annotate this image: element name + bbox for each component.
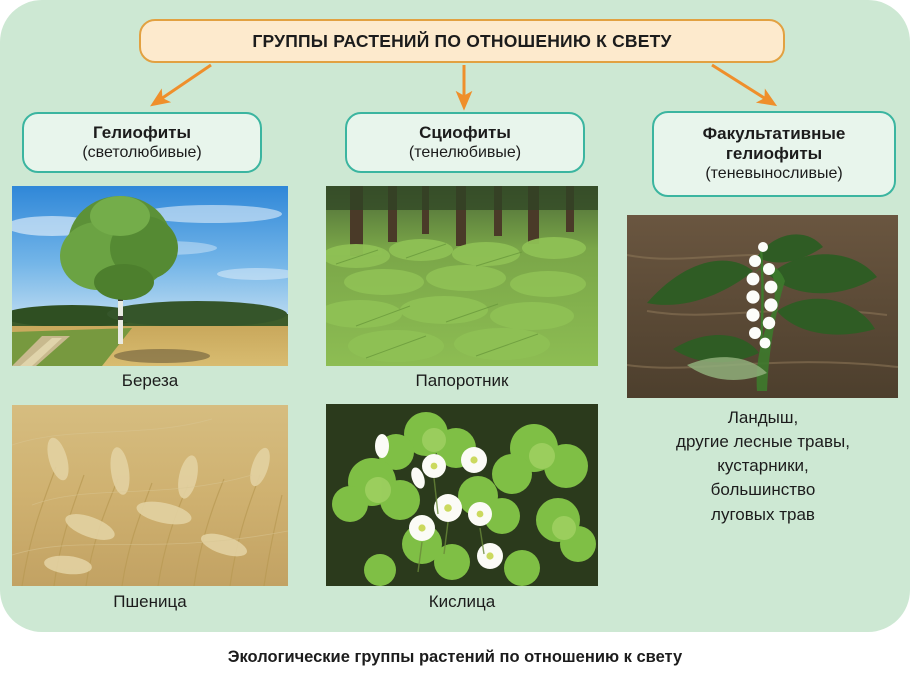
caption-birch: Береза [12, 371, 288, 391]
photo-wood-sorrel [326, 404, 598, 586]
category-box-heliophytes: Гелиофиты (светолюбивые) [22, 112, 262, 173]
photo-birch-tree [12, 186, 288, 366]
category-name-heliophytes: Гелиофиты [93, 123, 191, 143]
diagram-page: ГРУППЫ РАСТЕНИЙ ПО ОТНОШЕНИЮ К СВЕТУ Гел… [0, 0, 910, 686]
figure-caption: Экологические группы растений по отношен… [0, 648, 910, 667]
caption-oxalis: Кислица [326, 592, 598, 612]
diagram-title-box: ГРУППЫ РАСТЕНИЙ ПО ОТНОШЕНИЮ К СВЕТУ [139, 19, 785, 63]
category-name-facultative-line1: Факультативные [703, 124, 846, 144]
category-subtitle-sciophytes: (тенелюбивые) [409, 143, 521, 162]
photo-lily-of-the-valley [627, 215, 898, 398]
caption-wheat: Пшеница [12, 592, 288, 612]
category-name-sciophytes: Сциофиты [419, 123, 511, 143]
photo-fern-forest [326, 186, 598, 366]
photo-wheat-field [12, 405, 288, 586]
category-subtitle-heliophytes: (светолюбивые) [82, 143, 201, 162]
caption-fern: Папоротник [326, 371, 598, 391]
facultative-heliophytes-examples-text: Ландыш, другие лесные травы, кустарники,… [620, 406, 906, 527]
category-name-facultative-line2: гелиофиты [726, 144, 822, 164]
category-box-sciophytes: Сциофиты (тенелюбивые) [345, 112, 585, 173]
diagram-title-text: ГРУППЫ РАСТЕНИЙ ПО ОТНОШЕНИЮ К СВЕТУ [252, 31, 671, 52]
category-box-facultative-heliophytes: Факультативные гелиофиты (теневыносливые… [652, 111, 896, 197]
category-subtitle-facultative: (теневыносливые) [705, 164, 842, 183]
